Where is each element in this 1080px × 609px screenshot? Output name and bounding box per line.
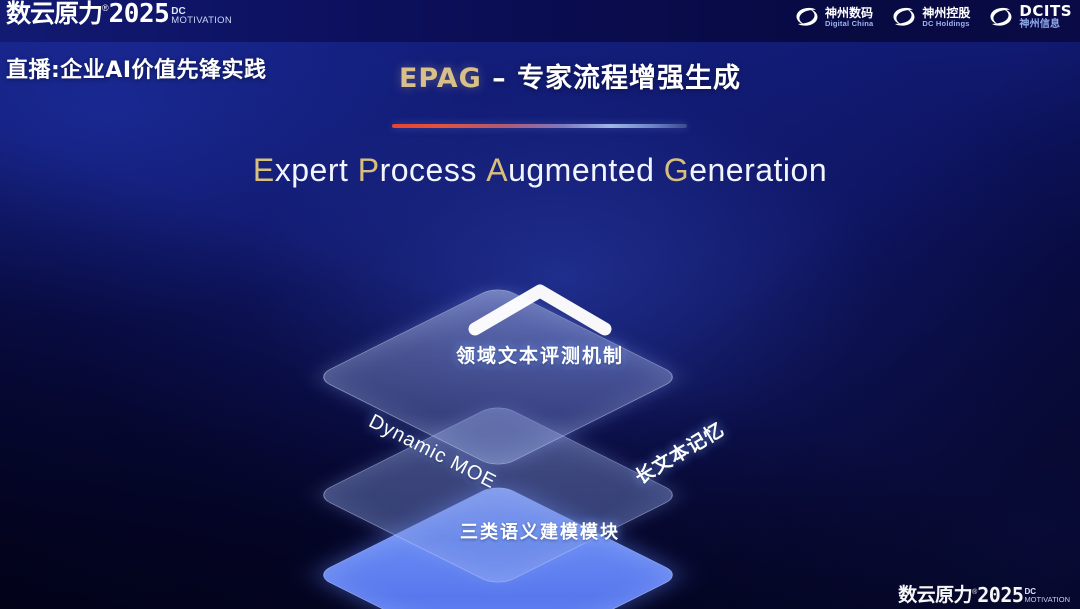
title-acronym: EPAG [399,63,482,94]
subtitle-initial-e: E [253,152,275,188]
live-stream-title: 直播:企业AI价值先锋实践 [6,52,267,84]
layer-bottom-label: 三类语义建模模块 [460,518,620,544]
brand-year: 2025 [109,1,170,27]
partner-label: DCITS 神州信息 [1019,4,1072,30]
brand-dc-motivation: DC MOTIVATION [171,7,232,27]
footer-dc-motivation: DC MOTIVATION [1024,588,1070,605]
brand-logo: 数云原力 ® 2025 DC MOTIVATION [6,1,232,27]
footer-year: 2025 [977,585,1023,605]
partner-label: 神州数码 Digital China [825,7,873,28]
page-subtitle: Expert Process Augmented Generation [0,152,1080,189]
subtitle-initial-p: P [358,152,380,188]
partner-name-en: Digital China [825,20,873,28]
subtitle-initial-g: G [664,152,689,188]
partner-logo: DCITS 神州信息 [988,4,1072,30]
footer-motivation-text: MOTIVATION [1024,596,1070,604]
subtitle-rest-expert: xpert [275,152,349,188]
swoosh-icon [794,6,820,28]
chevron-up-icon [465,281,615,337]
layer-top-label: 领域文本评测机制 [456,341,624,368]
title-dash: – [482,63,517,94]
title-chinese: 专家流程增强生成 [517,63,741,94]
partner-logo: 神州控股 DC Holdings [891,6,970,28]
layer-stack-diagram: 领域文本评测机制 Dynamic MOE 长文本记忆 三类语义建模模块 [300,233,780,573]
subtitle-rest-augmented: ugmented [508,152,654,188]
subtitle-rest-generation: eneration [689,152,827,188]
partner-label: 神州控股 DC Holdings [922,7,970,28]
swoosh-icon [891,6,917,28]
partner-logo-group: 神州数码 Digital China 神州控股 DC Holdings DCIT… [794,4,1072,30]
slide-canvas: 数云原力 ® 2025 DC MOTIVATION 直播:企业AI价值先锋实践 … [0,0,1080,609]
brand-motivation-text: MOTIVATION [171,16,232,25]
partner-name-cn: 神州数码 [825,7,873,19]
partner-name-en: 神州信息 [1019,20,1072,30]
partner-name-cn: 神州控股 [922,7,970,19]
subtitle-initial-a: A [486,152,508,188]
footer-name-cn: 数云原力 [898,585,972,605]
footer-watermark-logo: 数云原力 ® 2025 DC MOTIVATION [898,585,1070,605]
partner-name-cn: DCITS [1019,4,1072,19]
brand-name-cn: 数云原力 [6,1,102,27]
partner-logo: 神州数码 Digital China [794,6,873,28]
subtitle-rest-process: rocess [380,152,477,188]
partner-name-en: DC Holdings [922,20,970,28]
brand-registered-mark: ® [102,1,109,15]
swoosh-icon [988,6,1014,28]
title-divider [392,124,687,128]
